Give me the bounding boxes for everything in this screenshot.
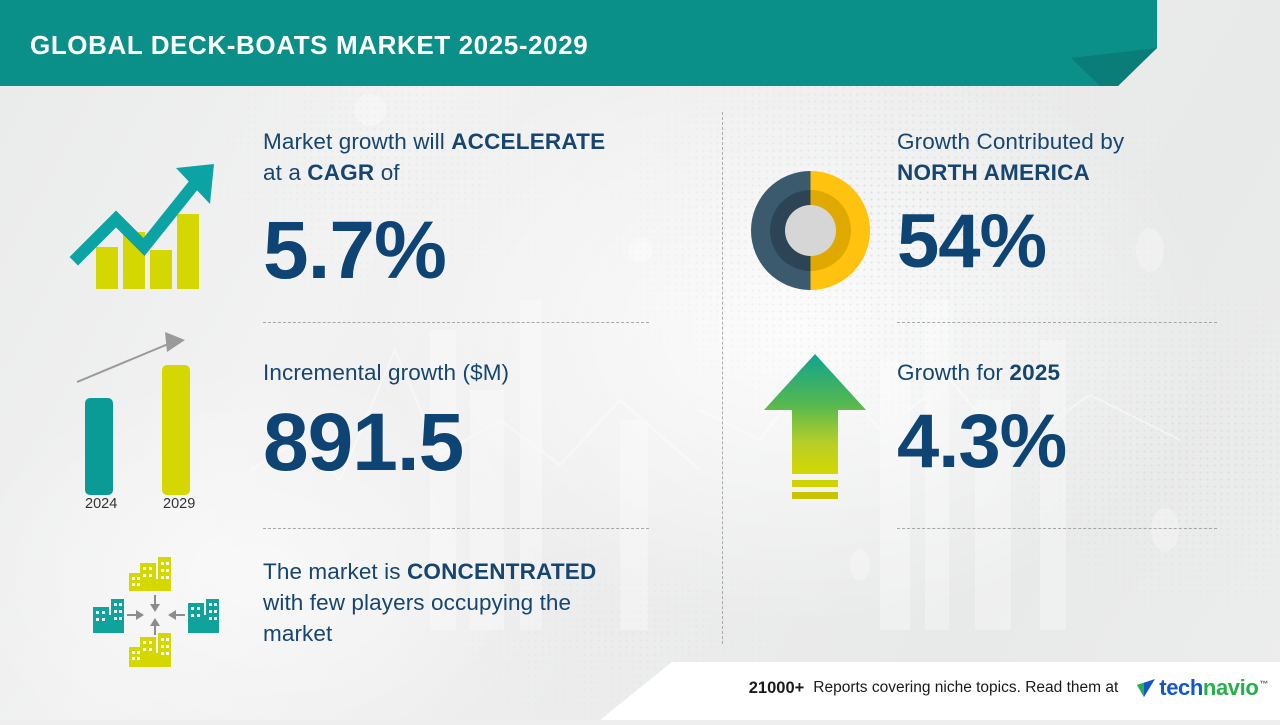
donut-chart-icon — [748, 168, 873, 293]
market-concentration-block: The market is CONCENTRATED with few play… — [263, 556, 663, 649]
bar-label-2024: 2024 — [85, 496, 117, 512]
cagr-value: 5.7% — [263, 210, 663, 292]
bar-label-2029: 2029 — [163, 496, 195, 512]
year-growth-block: Growth for 2025 4.3% — [897, 357, 1237, 480]
concentrated-emphasis: CONCENTRATED — [407, 559, 596, 584]
concentration-line1-prefix: The market is — [263, 559, 407, 584]
divider-left-lower — [263, 528, 649, 529]
year-growth-label: Growth for 2025 — [897, 357, 1237, 388]
concentration-line-1: The market is CONCENTRATED — [263, 556, 663, 587]
logo-tech-text: tech — [1159, 675, 1203, 700]
cagr-line1-prefix: Market growth will — [263, 129, 451, 154]
market-concentration-buildings-icon — [85, 555, 235, 675]
footer-bar: 21000+ Reports covering niche topics. Re… — [0, 662, 1280, 720]
reports-count: 21000+ — [749, 679, 805, 698]
divider-right-upper — [897, 322, 1217, 323]
divider-vertical-center — [722, 112, 723, 644]
technavio-wordmark: technavio™ — [1159, 675, 1268, 701]
page-title: GLOBAL DECK-BOATS MARKET 2025-2029 — [30, 30, 588, 61]
logo-navio-text: navio — [1203, 675, 1258, 700]
region-line-1: Growth Contributed by — [897, 126, 1237, 157]
bar-2024 — [85, 398, 113, 495]
cagr-line2-prefix: at a — [263, 160, 307, 185]
incremental-growth-label: Incremental growth ($M) — [263, 357, 663, 388]
region-contribution-value: 54% — [897, 204, 1237, 280]
header-banner: GLOBAL DECK-BOATS MARKET 2025-2029 — [0, 0, 1280, 86]
region-contribution-block: Growth Contributed by NORTH AMERICA 54% — [897, 126, 1237, 280]
up-arrow-gradient-icon — [760, 352, 870, 507]
cagr-line2-suffix: of — [374, 160, 399, 185]
footer-content: 21000+ Reports covering niche topics. Re… — [749, 675, 1280, 701]
technavio-mark-icon — [1135, 677, 1157, 699]
divider-right-lower — [897, 528, 1217, 529]
two-bars-trend-icon — [55, 330, 245, 505]
region-name: NORTH AMERICA — [897, 157, 1237, 188]
footer-tagline: Reports covering niche topics. Read them… — [813, 679, 1118, 697]
incremental-growth-block: Incremental growth ($M) 891.5 — [263, 357, 663, 484]
year-growth-value: 4.3% — [897, 404, 1237, 480]
cagr-block: Market growth will ACCELERATE at a CAGR … — [263, 126, 663, 292]
technavio-logo[interactable]: technavio™ — [1135, 675, 1268, 701]
cagr-line-1: Market growth will ACCELERATE — [263, 126, 663, 157]
cagr-accelerate-emphasis: ACCELERATE — [451, 129, 605, 154]
cagr-line-2: at a CAGR of — [263, 157, 663, 188]
year-growth-prefix: Growth for — [897, 360, 1009, 385]
growth-bar-chart-arrow-icon — [68, 152, 228, 292]
concentration-line-2: with few players occupying the — [263, 587, 663, 618]
north-america-emphasis: NORTH AMERICA — [897, 160, 1090, 185]
trademark-symbol: ™ — [1259, 679, 1268, 689]
incremental-growth-value: 891.5 — [263, 402, 663, 484]
cagr-emphasis: CAGR — [307, 160, 374, 185]
year-emphasis: 2025 — [1009, 360, 1060, 385]
bar-2029 — [162, 365, 190, 495]
concentration-line-3: market — [263, 618, 663, 649]
divider-left-upper — [263, 322, 649, 323]
